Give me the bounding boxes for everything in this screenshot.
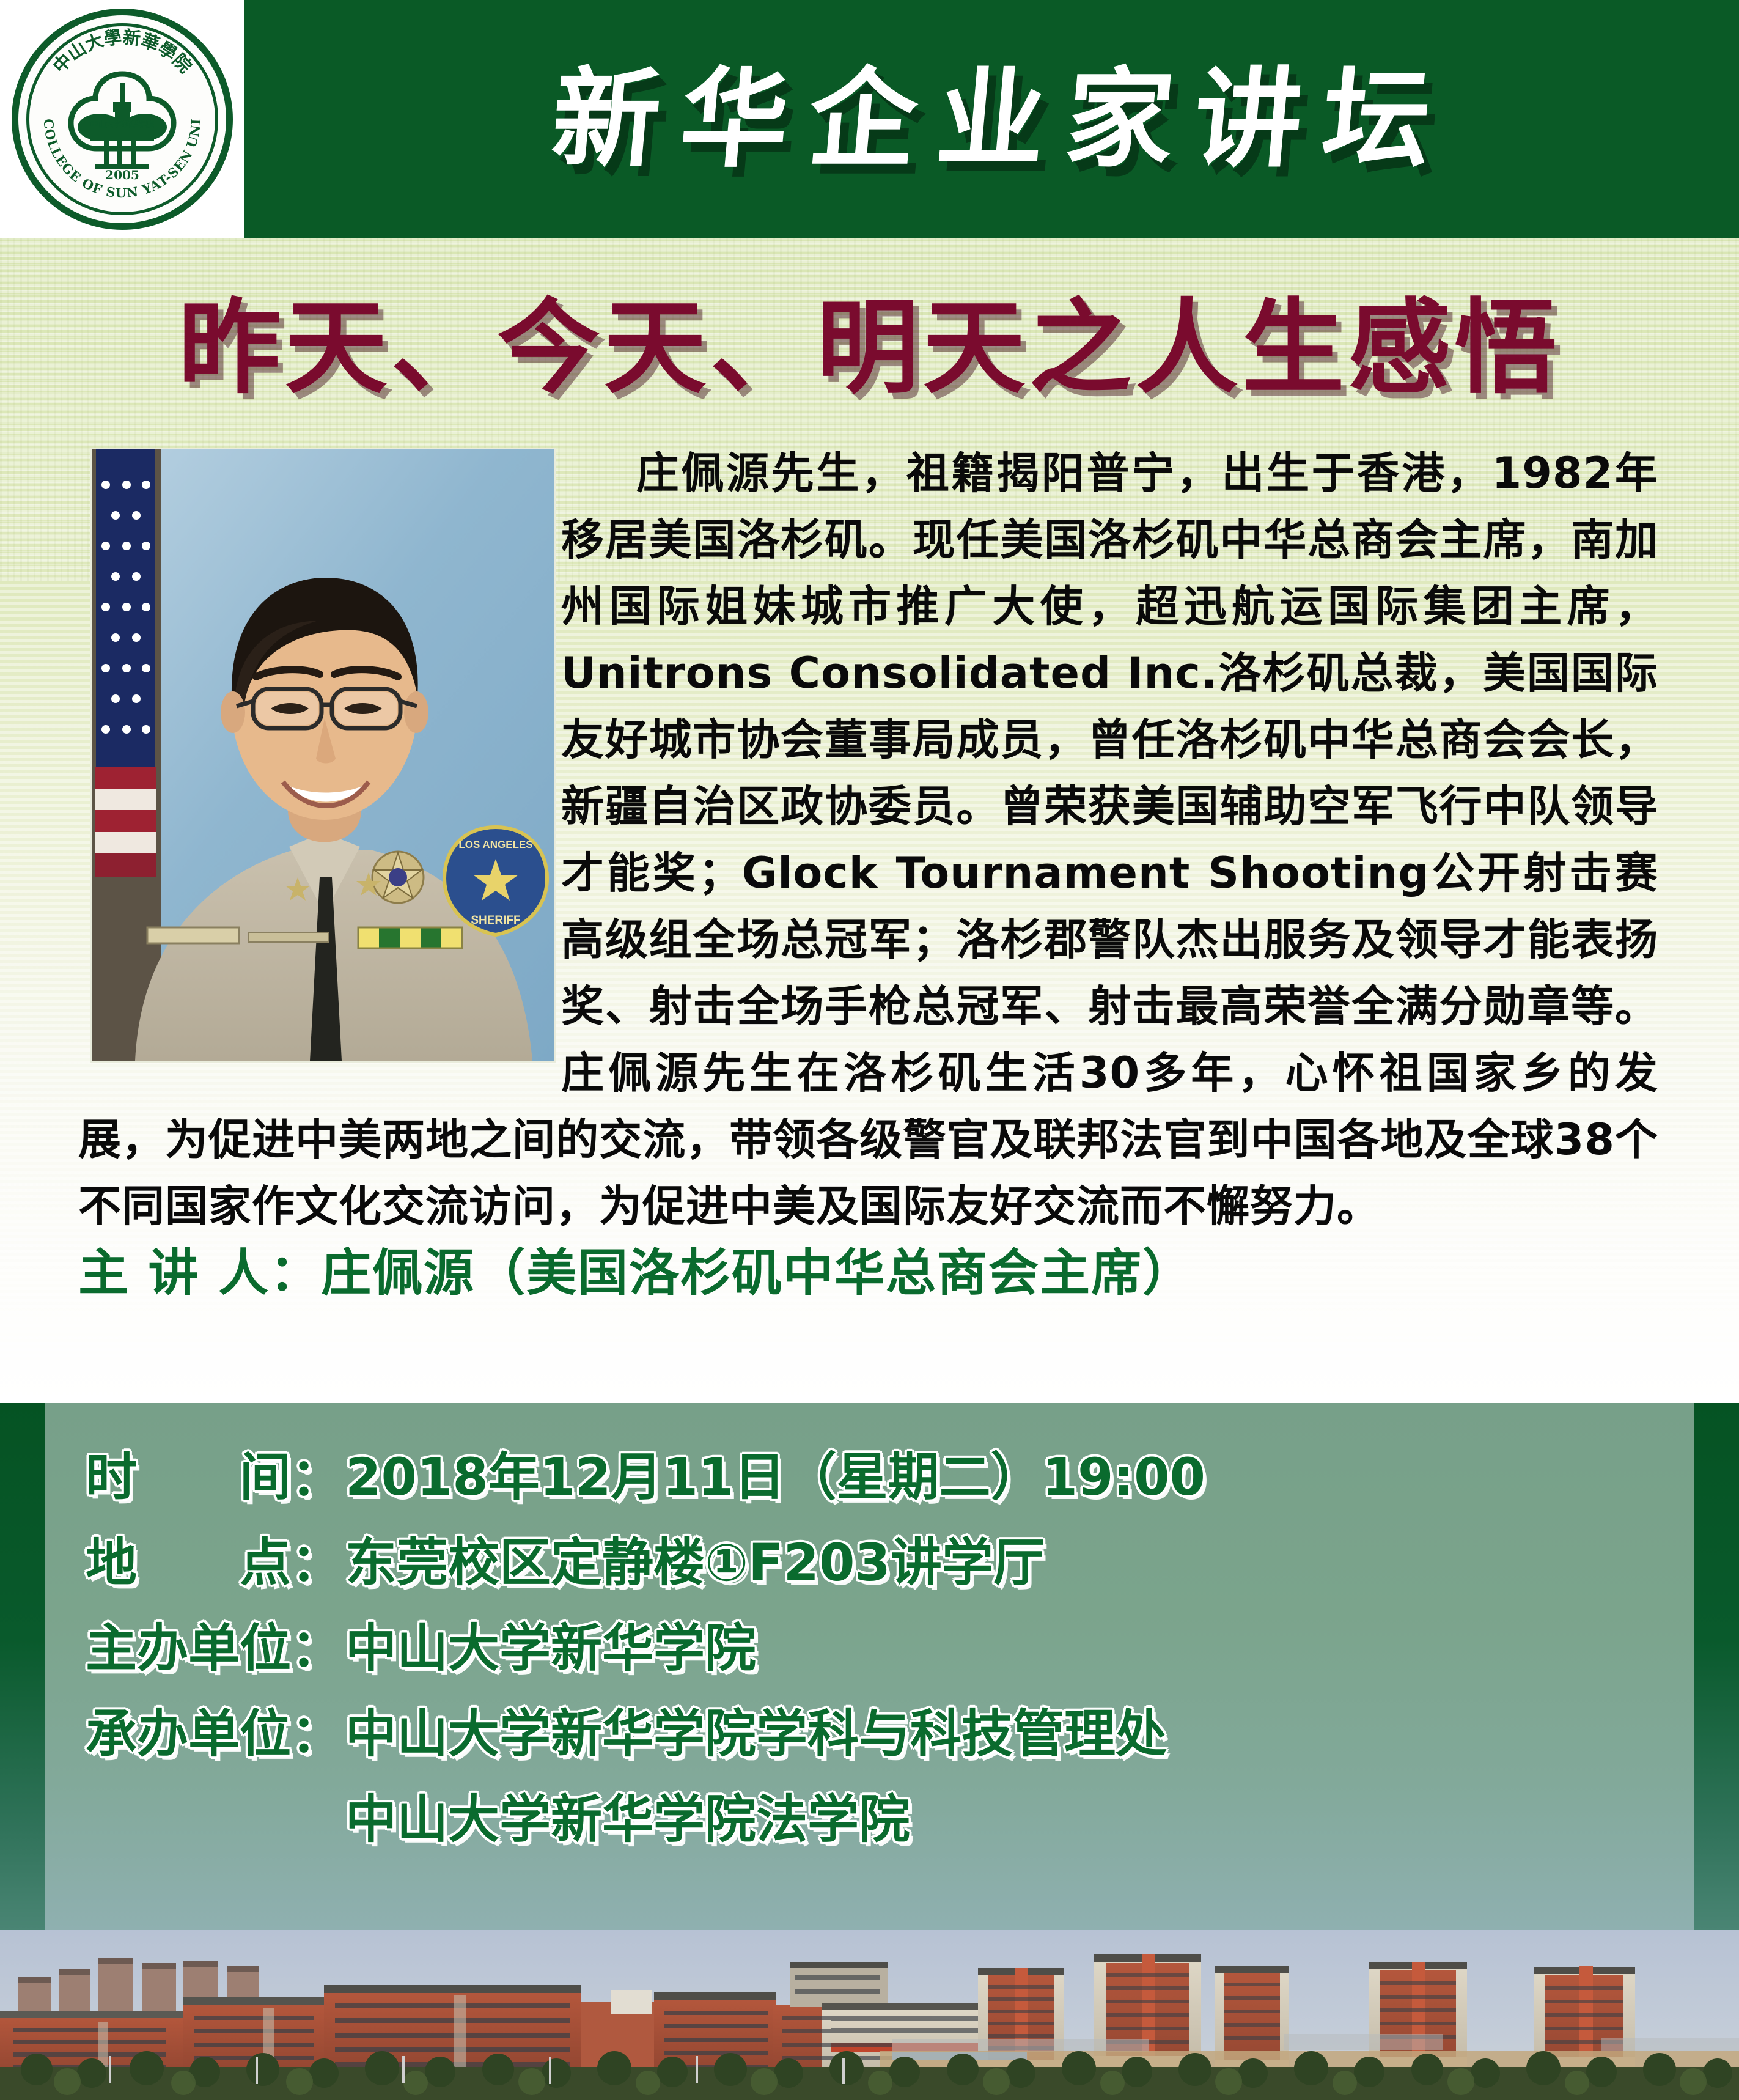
info-value-time: 2018年12月11日（星期二）19:00	[345, 1441, 1205, 1513]
poster-header: 中山大學新華學院 XINHUA COLLEGE OF SUN YAT-SEN U…	[0, 0, 1739, 238]
info-row-host: 承办单位： 中山大学新华学院学科与科技管理处	[86, 1698, 1614, 1770]
campus-skyline-photo	[0, 1930, 1739, 2100]
info-edge-right	[1694, 1403, 1739, 1930]
poster-root: 中山大學新華學院 XINHUA COLLEGE OF SUN YAT-SEN U…	[0, 0, 1739, 2100]
page-title: 昨天、今天、明天之人生感悟	[0, 297, 1739, 399]
info-label-host: 承办单位：	[86, 1698, 345, 1770]
xinhua-college-seal-icon: 中山大學新華學院 XINHUA COLLEGE OF SUN YAT-SEN U…	[12, 9, 233, 230]
logo-container: 中山大學新華學院 XINHUA COLLEGE OF SUN YAT-SEN U…	[0, 0, 244, 238]
info-rows: 时 间： 2018年12月11日（星期二）19:00 地 点： 东莞校区定静楼①…	[86, 1441, 1614, 1869]
svg-text:2005: 2005	[105, 168, 139, 182]
info-row-time: 时 间： 2018年12月11日（星期二）19:00	[86, 1441, 1614, 1513]
banner-title: 新华企业家讲坛	[528, 65, 1456, 173]
svg-text:中山大學新華學院: 中山大學新華學院	[49, 26, 196, 76]
header-green-band: 新华企业家讲坛	[244, 0, 1739, 238]
speaker-line: 主 讲 人：庄佩源（美国洛杉矶中华总商会主席）	[78, 1248, 1658, 1299]
body-panel: 昨天、今天、明天之人生感悟	[0, 238, 1739, 1403]
event-info-block: 时 间： 2018年12月11日（星期二）19:00 地 点： 东莞校区定静楼①…	[0, 1403, 1739, 1930]
info-value-organizer: 中山大学新华学院	[345, 1612, 756, 1684]
info-value-host: 中山大学新华学院学科与科技管理处	[345, 1698, 1167, 1770]
info-value-host-second: 中山大学新华学院法学院	[345, 1783, 910, 1855]
svg-text:中山大学新华学院: 中山大学新华学院	[90, 120, 154, 130]
info-label-organizer: 主办单位：	[86, 1612, 345, 1684]
info-label-location: 地 点：	[86, 1527, 345, 1599]
info-row-organizer: 主办单位： 中山大学新华学院	[86, 1612, 1614, 1684]
info-label-time: 时 间：	[86, 1441, 345, 1513]
portrait-text-wrap	[78, 440, 561, 1064]
info-row-host-second: 中山大学新华学院法学院	[86, 1783, 1614, 1855]
info-value-location: 东莞校区定静楼①F203讲学厅	[345, 1527, 1045, 1599]
info-row-location: 地 点： 东莞校区定静楼①F203讲学厅	[86, 1527, 1614, 1599]
info-edge-left	[0, 1403, 45, 1930]
speaker-bio: 庄佩源先生，祖籍揭阳普宁，出生于香港，1982年移居美国洛杉矶。现任美国洛杉矶中…	[78, 440, 1658, 1240]
